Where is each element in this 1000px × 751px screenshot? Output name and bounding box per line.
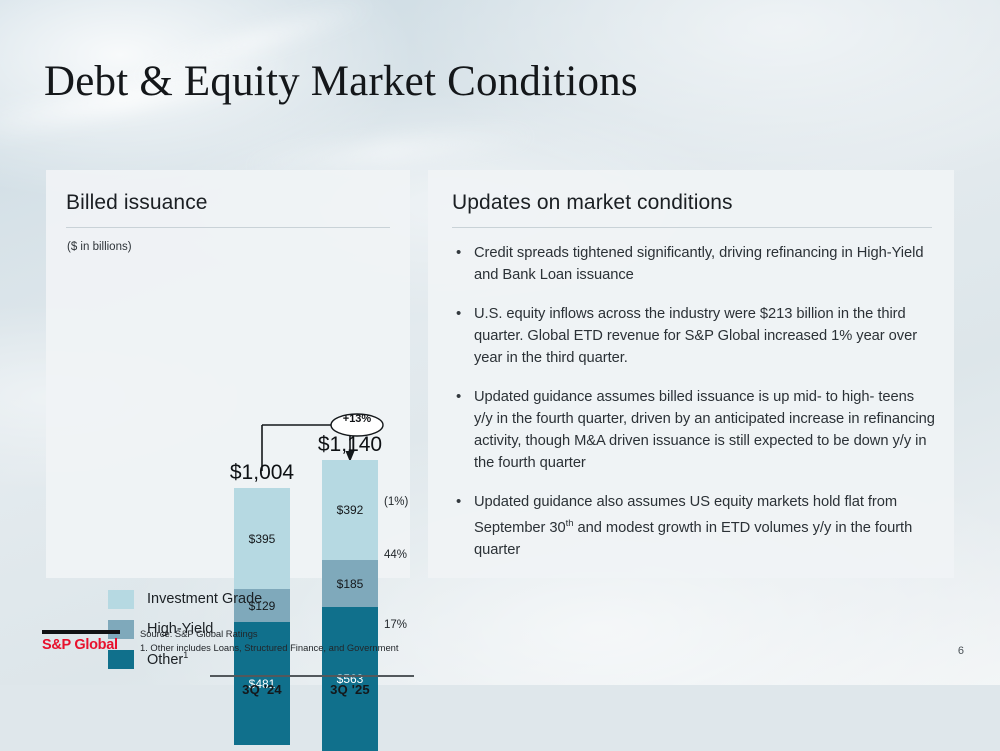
list-item: • U.S. equity inflows across the industr… <box>452 303 936 369</box>
bullet-point-icon: • <box>452 386 474 474</box>
axis-tick-2024: 3Q '24 <box>217 682 307 697</box>
source-line: Source: S&P Global Ratings <box>140 627 398 641</box>
bar-segment-value: $185 <box>337 577 364 591</box>
list-item: • Updated guidance also assumes US equit… <box>452 491 936 561</box>
growth-callout-label: +13% <box>331 413 383 425</box>
list-item: • Updated guidance assumes billed issuan… <box>452 386 936 474</box>
bullet-text: Updated guidance also assumes US equity … <box>474 491 936 561</box>
bullet-list: • Credit spreads tightened significantly… <box>452 242 936 578</box>
slide-canvas: Debt & Equity Market Conditions Billed i… <box>0 0 1000 685</box>
bar-segment-high-yield-2025[interactable]: $185 <box>322 560 378 607</box>
billed-issuance-chart: +13% $1,004 $1,140 $395 $129 $481 $392 <box>46 170 410 578</box>
page-number: 6 <box>958 645 964 657</box>
bar-total-label-2025: $1,140 <box>275 433 425 457</box>
panel-divider <box>452 227 932 228</box>
bar-segment-investment-grade-2024[interactable]: $395 <box>234 488 290 589</box>
logo-bar-icon <box>42 630 120 634</box>
source-notes: Source: S&P Global Ratings 1. Other incl… <box>140 627 398 655</box>
bullet-point-icon: • <box>452 491 474 561</box>
footnote-line: 1. Other includes Loans, Structured Fina… <box>140 641 398 655</box>
bullet-text: U.S. equity inflows across the industry … <box>474 303 936 369</box>
logo-wordmark: S&P Global <box>42 637 120 653</box>
bullet-text: Updated guidance assumes billed issuance… <box>474 386 936 474</box>
legend-item-investment-grade[interactable]: Investment Grade <box>108 584 262 614</box>
market-conditions-panel: Updates on market conditions • Credit sp… <box>428 170 954 578</box>
list-item: • Credit spreads tightened significantly… <box>452 242 936 286</box>
bullet-point-icon: • <box>452 242 474 286</box>
page-title: Debt & Equity Market Conditions <box>44 57 638 106</box>
billed-issuance-panel: Billed issuance ($ in billions) +13% $1,… <box>46 170 410 578</box>
axis-tick-2025: 3Q '25 <box>305 682 395 697</box>
ordinal-superscript: th <box>566 518 574 529</box>
bar-segment-value: $395 <box>249 532 276 546</box>
chart-axis-line <box>210 675 414 677</box>
panel-heading-market-conditions: Updates on market conditions <box>452 191 733 215</box>
bullet-point-icon: • <box>452 303 474 369</box>
bar-segment-value: $392 <box>337 503 364 517</box>
bar-total-label-2024: $1,004 <box>187 461 337 485</box>
bullet-text: Credit spreads tightened significantly, … <box>474 242 936 286</box>
legend-swatch-icon <box>108 590 134 609</box>
bar-segment-investment-grade-2025[interactable]: $392 <box>322 460 378 560</box>
legend-label: Investment Grade <box>147 591 262 607</box>
sp-global-logo: S&P Global <box>42 630 120 653</box>
